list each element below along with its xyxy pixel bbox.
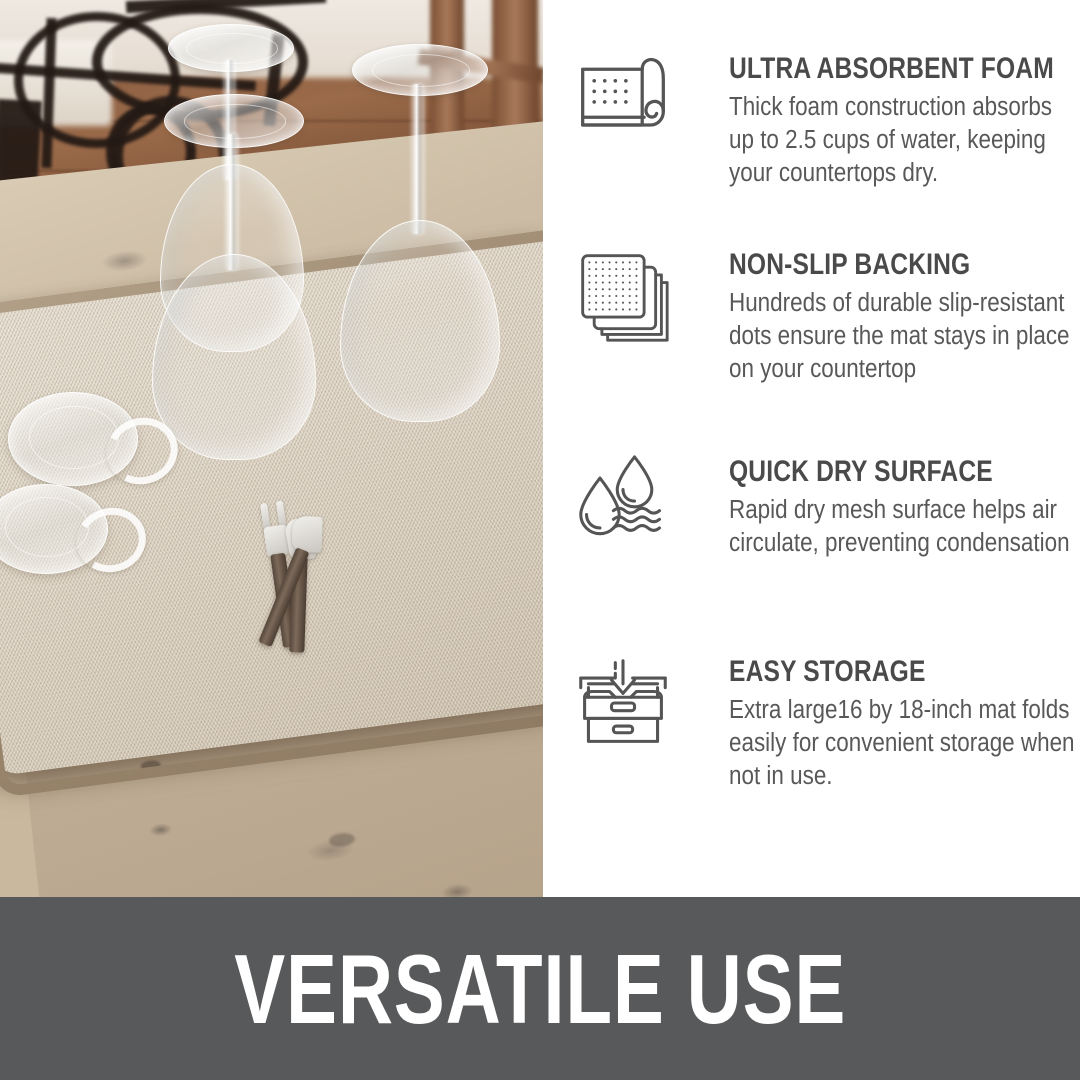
feature-text: NON-SLIP BACKING Hundreds of durable sli… [729, 248, 1079, 386]
feature-text: ULTRA ABSORBENT FOAM Thick foam construc… [729, 52, 1079, 190]
feature-text: QUICK DRY SURFACE Rapid dry mesh surface… [729, 455, 1079, 560]
feature-body: Extra large16 by 18-inch mat folds easil… [729, 694, 1079, 793]
feature-title: ULTRA ABSORBENT FOAM [729, 52, 1016, 86]
feature-body: Rapid dry mesh surface helps air circula… [729, 494, 1079, 560]
feature-title: QUICK DRY SURFACE [729, 455, 1016, 489]
feature-title: NON-SLIP BACKING [729, 248, 1016, 282]
glass-stem [412, 84, 424, 234]
foam-roll-icon [575, 52, 671, 148]
feature-panel: ULTRA ABSORBENT FOAM Thick foam construc… [543, 0, 1080, 897]
product-photo [0, 0, 543, 897]
feature-body: Thick foam construction absorbs up to 2.… [729, 91, 1079, 190]
infographic-canvas: ULTRA ABSORBENT FOAM Thick foam construc… [0, 0, 1080, 1080]
stacked-dotted-mats-icon [575, 248, 671, 344]
feature-body: Hundreds of durable slip-resistant dots … [729, 287, 1079, 386]
bottom-banner: VERSATILE USE [0, 897, 1080, 1080]
glass-stem [226, 134, 238, 270]
water-drops-icon [575, 455, 671, 551]
feature-text: EASY STORAGE Extra large16 by 18-inch ma… [729, 655, 1079, 793]
feature-title: EASY STORAGE [729, 655, 1016, 689]
storage-drawer-icon [575, 655, 671, 751]
banner-title: VERSATILE USE [234, 940, 846, 1038]
